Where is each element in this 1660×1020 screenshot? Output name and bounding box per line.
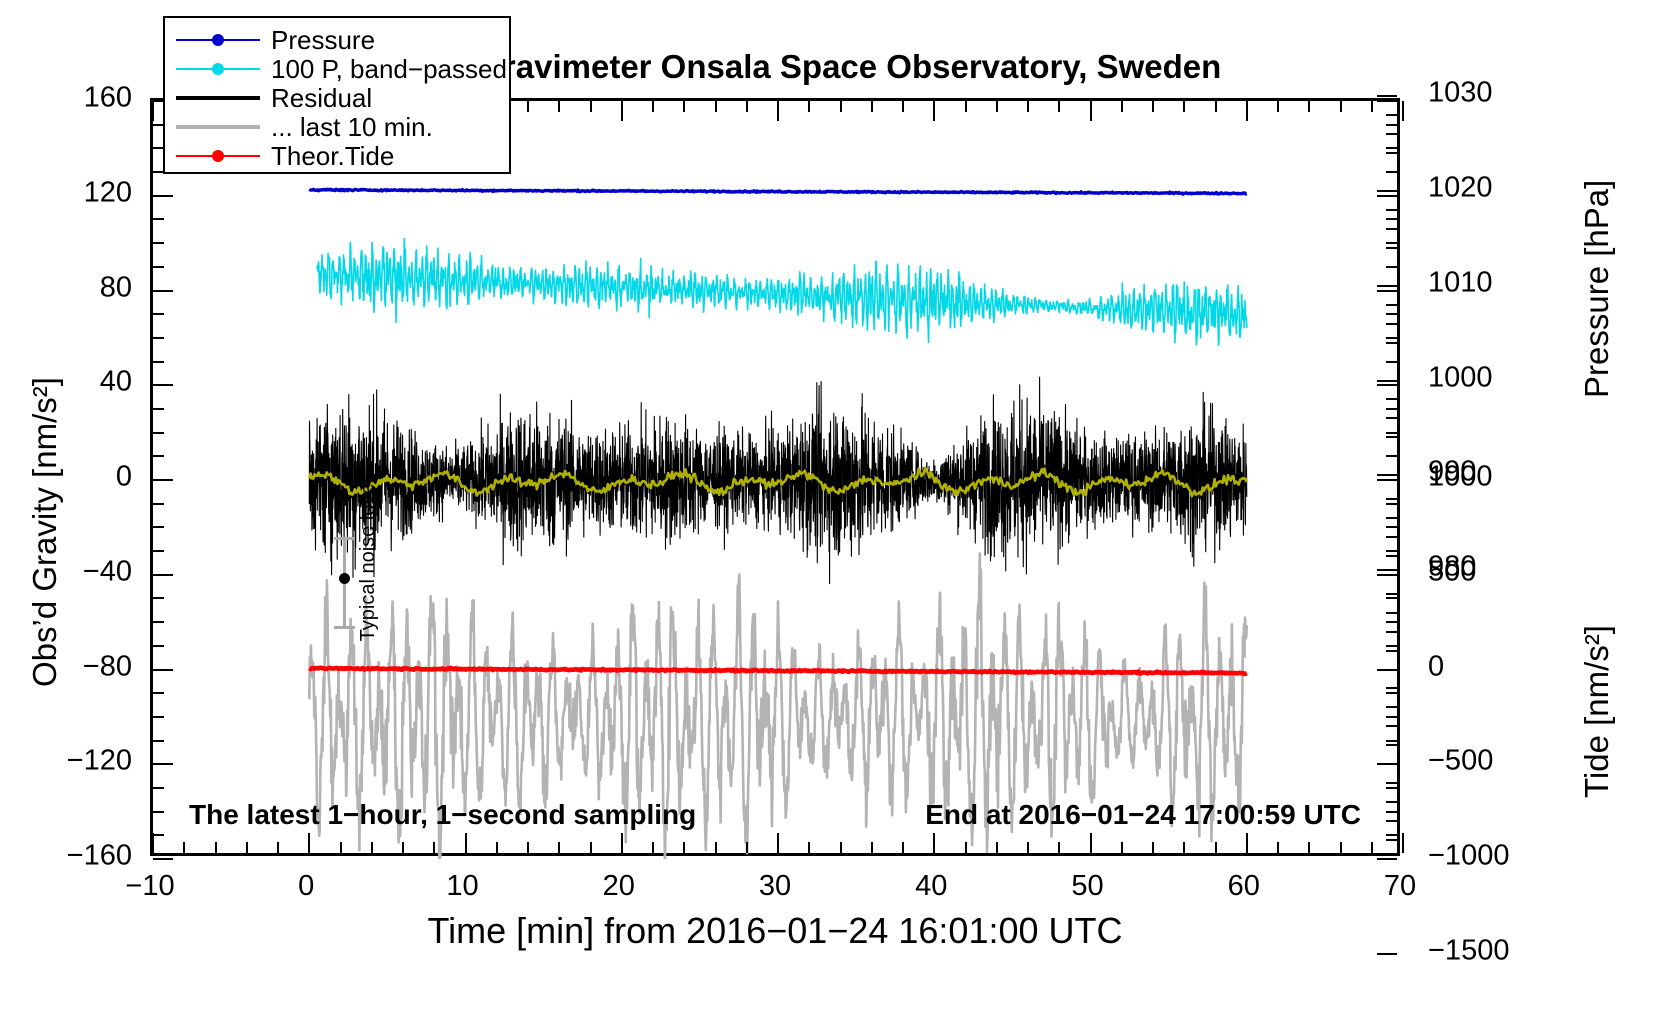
y-tick-left	[153, 361, 164, 363]
x-tick-bottom	[590, 842, 592, 853]
x-tick-bottom	[715, 842, 717, 853]
y-axis-right-tide-label: 500	[1428, 557, 1476, 586]
y-axis-left-tick-label: −80	[20, 652, 132, 681]
y-tick-right-tide-minor	[1386, 820, 1397, 822]
y-tick-left	[153, 242, 164, 244]
x-tick-bottom	[683, 842, 685, 853]
y-tick-left	[153, 574, 173, 576]
y-tick-right-tide-minor	[1386, 612, 1397, 614]
x-tick-top	[715, 101, 717, 112]
legend-label-last10min: ... last 10 min.	[271, 114, 433, 140]
x-tick-bottom	[308, 833, 310, 853]
x-tick-top	[1371, 101, 1373, 112]
y-tick-left-mirror	[1386, 621, 1397, 623]
x-tick-bottom	[183, 842, 185, 853]
y-tick-left	[153, 479, 173, 481]
x-tick-bottom	[1183, 842, 1185, 853]
data-traces	[153, 101, 1403, 859]
y-tick-left	[153, 526, 164, 528]
y-tick-left	[153, 455, 164, 457]
x-tick-top	[1308, 101, 1310, 112]
legend-swatch-theortide	[176, 147, 260, 165]
y-tick-left-mirror	[1386, 503, 1397, 505]
y-tick-right-tide-minor	[1386, 782, 1397, 784]
y-tick-right-tide-minor	[1386, 555, 1397, 557]
y-tick-right-pressure	[1377, 474, 1397, 476]
x-tick-top	[1121, 101, 1123, 112]
x-tick-top	[871, 101, 873, 112]
y-tick-right-pressure-minor	[1386, 133, 1397, 135]
y-tick-right-pressure-minor	[1386, 209, 1397, 211]
y-tick-left	[153, 621, 164, 623]
noise-level-cap-top	[334, 537, 355, 540]
x-tick-top	[808, 101, 810, 112]
y-tick-left	[153, 408, 164, 410]
legend-item-bandpassed: 100 P, band−passed	[165, 54, 509, 83]
x-tick-bottom	[1402, 833, 1404, 853]
x-axis-tick-label: 0	[298, 872, 314, 901]
x-tick-top	[1058, 101, 1060, 112]
y-axis-left-tick-label: 80	[20, 273, 132, 302]
y-tick-right-tide-minor	[1386, 650, 1397, 652]
y-axis-right-pressure-label: 1000	[1428, 363, 1493, 392]
x-tick-bottom	[496, 842, 498, 853]
x-tick-top	[683, 101, 685, 112]
legend-item-residual: Residual	[165, 83, 509, 112]
y-tick-right-tide-minor	[1386, 744, 1397, 746]
y-tick-left	[153, 597, 164, 599]
x-tick-bottom	[465, 833, 467, 853]
noise-level-dot	[339, 573, 350, 584]
y-tick-left-mirror	[1386, 242, 1397, 244]
y-axis-right-pressure-label: 1030	[1428, 79, 1493, 108]
y-tick-right-tide-minor	[1386, 593, 1397, 595]
y-tick-left-mirror	[1386, 408, 1397, 410]
legend-swatch-last10min	[176, 118, 260, 136]
x-tick-bottom	[1308, 842, 1310, 853]
y-axis-right-tide-label: −1500	[1428, 936, 1509, 965]
y-tick-right-pressure	[1377, 285, 1397, 287]
x-tick-bottom	[652, 842, 654, 853]
x-tick-top	[777, 101, 779, 121]
legend-item-pressure: Pressure	[165, 25, 509, 54]
noise-level-cap-bottom	[334, 626, 355, 629]
x-tick-bottom	[1371, 842, 1373, 853]
x-tick-top	[1183, 101, 1185, 112]
y-tick-right-pressure-minor	[1386, 361, 1397, 363]
y-tick-left	[153, 645, 164, 647]
y-tick-right-pressure-minor	[1386, 342, 1397, 344]
x-tick-top	[1152, 101, 1154, 112]
y-tick-left-mirror	[1386, 692, 1397, 694]
x-tick-bottom	[1058, 842, 1060, 853]
x-axis-tick-label: 50	[1071, 872, 1103, 901]
x-tick-bottom	[965, 842, 967, 853]
x-tick-top	[840, 101, 842, 112]
x-tick-bottom	[840, 842, 842, 853]
legend-swatch-bandpassed	[176, 60, 260, 78]
x-tick-top	[1402, 101, 1404, 121]
y-tick-right-pressure-minor	[1386, 304, 1397, 306]
y-tick-right-pressure-minor	[1386, 398, 1397, 400]
y-tick-left-mirror	[1377, 384, 1397, 386]
x-tick-bottom	[808, 842, 810, 853]
y-tick-left	[153, 218, 164, 220]
y-axis-left-tick-label: −120	[20, 747, 132, 776]
y-axis-right-tide-title: Tide [nm/s²]	[1580, 625, 1613, 798]
y-tick-left-mirror	[1386, 313, 1397, 315]
y-axis-left-tick-label: 120	[20, 178, 132, 207]
y-tick-left-mirror	[1386, 716, 1397, 718]
y-tick-right-tide-minor	[1386, 725, 1397, 727]
x-tick-bottom	[152, 833, 154, 853]
y-tick-right-tide	[1377, 479, 1397, 481]
y-tick-left	[153, 787, 164, 789]
x-axis-tick-label: 20	[603, 872, 635, 901]
x-tick-top	[746, 101, 748, 112]
x-axis-tick-label: 70	[1384, 872, 1416, 901]
x-tick-bottom	[277, 842, 279, 853]
x-tick-bottom	[1246, 833, 1248, 853]
x-tick-top	[933, 101, 935, 121]
x-tick-top	[1090, 101, 1092, 121]
annotation-bottom-right: End at 2016−01−24 17:00:59 UTC	[925, 799, 1361, 831]
y-tick-left	[153, 716, 164, 718]
x-tick-top	[965, 101, 967, 112]
y-tick-right-tide	[1377, 574, 1397, 576]
x-tick-top	[590, 101, 592, 112]
x-tick-top	[1340, 101, 1342, 112]
y-tick-right-pressure	[1377, 95, 1397, 97]
x-tick-bottom	[1277, 842, 1279, 853]
y-axis-left-title: Obs’d Gravity [nm/s²]	[28, 377, 61, 687]
y-tick-left-mirror	[1386, 337, 1397, 339]
y-tick-right-pressure-minor	[1386, 247, 1397, 249]
y-tick-left-mirror	[1386, 124, 1397, 126]
y-axis-left-tick-label: 160	[20, 84, 132, 113]
x-tick-top	[152, 101, 154, 121]
x-tick-bottom	[1215, 842, 1217, 853]
y-tick-left-mirror	[1386, 834, 1397, 836]
y-axis-right-tide-label: −500	[1428, 747, 1493, 776]
x-tick-top	[527, 101, 529, 112]
y-tick-left	[153, 432, 164, 434]
y-tick-right-tide-minor	[1386, 687, 1397, 689]
y-tick-left-mirror	[1386, 740, 1397, 742]
x-tick-bottom	[1340, 842, 1342, 853]
y-tick-left	[153, 858, 173, 860]
y-tick-left	[153, 503, 164, 505]
x-tick-bottom	[558, 842, 560, 853]
x-tick-bottom	[1121, 842, 1123, 853]
x-tick-bottom	[371, 842, 373, 853]
y-tick-left	[153, 313, 164, 315]
y-tick-left	[153, 384, 173, 386]
y-tick-left	[153, 834, 164, 836]
legend-label-residual: Residual	[271, 85, 372, 111]
y-axis-right-tide-label: −1000	[1428, 842, 1509, 871]
y-tick-right-pressure-minor	[1386, 114, 1397, 116]
x-tick-top	[1215, 101, 1217, 112]
y-tick-left	[153, 692, 164, 694]
plot-area: Typical noise level The latest 1−hour, 1…	[150, 98, 1400, 856]
y-tick-left	[153, 550, 164, 552]
chart-canvas: SCG_054 gravimeter Onsala Space Observat…	[0, 0, 1660, 1020]
y-tick-left-mirror	[1386, 147, 1397, 149]
y-axis-left-tick-label: 40	[20, 368, 132, 397]
y-tick-left	[153, 763, 173, 765]
y-tick-left-mirror	[1377, 290, 1397, 292]
y-tick-right-pressure	[1377, 569, 1397, 571]
y-tick-left-mirror	[1377, 100, 1397, 102]
trace-bandpassed-pressure	[317, 239, 1247, 346]
x-tick-top	[996, 101, 998, 112]
legend-label-bandpassed: 100 P, band−passed	[271, 56, 507, 82]
y-tick-left	[153, 290, 173, 292]
x-tick-bottom	[996, 842, 998, 853]
y-tick-right-pressure	[1377, 190, 1397, 192]
y-axis-right-tide-label: 0	[1428, 652, 1444, 681]
y-tick-left-mirror	[1386, 645, 1397, 647]
legend-item-theortide: Theor.Tide	[165, 141, 509, 170]
y-tick-right-tide	[1377, 858, 1397, 860]
y-axis-left-tick-label: −40	[20, 557, 132, 586]
x-tick-top	[558, 101, 560, 112]
y-tick-right-pressure-minor	[1386, 436, 1397, 438]
y-tick-left	[153, 811, 164, 813]
y-tick-right-tide-minor	[1386, 536, 1397, 538]
y-tick-right-tide-minor	[1386, 839, 1397, 841]
y-tick-left-mirror	[1386, 526, 1397, 528]
y-tick-right-tide	[1377, 763, 1397, 765]
y-tick-left	[153, 337, 164, 339]
x-tick-bottom	[777, 833, 779, 853]
legend-label-pressure: Pressure	[271, 27, 375, 53]
x-axis-tick-label: 10	[446, 872, 478, 901]
legend-item-last10min: ... last 10 min.	[165, 112, 509, 141]
y-tick-left-mirror	[1386, 550, 1397, 552]
noise-level-label: Typical noise level	[357, 479, 380, 641]
y-tick-left-mirror	[1386, 811, 1397, 813]
y-axis-left-tick-label: −160	[20, 842, 132, 871]
y-tick-right-tide-minor	[1386, 631, 1397, 633]
x-tick-top	[1277, 101, 1279, 112]
y-axis-right-pressure-label: 1020	[1428, 174, 1493, 203]
x-tick-top	[1027, 101, 1029, 112]
x-tick-top	[621, 101, 623, 121]
x-tick-bottom	[933, 833, 935, 853]
y-tick-left	[153, 740, 164, 742]
y-tick-right-tide	[1377, 669, 1397, 671]
y-tick-right-pressure-minor	[1386, 171, 1397, 173]
x-tick-bottom	[402, 842, 404, 853]
y-tick-left-mirror	[1386, 597, 1397, 599]
y-tick-right-pressure-minor	[1386, 266, 1397, 268]
legend-swatch-residual	[176, 89, 260, 107]
x-tick-bottom	[902, 842, 904, 853]
x-axis-tick-label: 40	[915, 872, 947, 901]
x-tick-bottom	[246, 842, 248, 853]
legend-swatch-pressure	[176, 31, 260, 49]
x-tick-top	[652, 101, 654, 112]
x-axis-tick-label: −10	[125, 872, 174, 901]
y-tick-left-mirror	[1386, 218, 1397, 220]
x-tick-bottom	[340, 842, 342, 853]
chart-legend: Pressure 100 P, band−passed Residual ...…	[163, 16, 511, 174]
x-tick-bottom	[527, 842, 529, 853]
y-tick-left	[153, 669, 173, 671]
x-tick-bottom	[746, 842, 748, 853]
y-tick-right-tide	[1377, 953, 1397, 955]
y-tick-right-pressure-minor	[1386, 417, 1397, 419]
annotation-bottom-left: The latest 1−hour, 1−second sampling	[189, 799, 696, 831]
x-axis-tick-label: 60	[1228, 872, 1260, 901]
y-tick-left-mirror	[1386, 787, 1397, 789]
x-tick-top	[902, 101, 904, 112]
x-tick-bottom	[215, 842, 217, 853]
y-tick-left	[153, 195, 173, 197]
y-tick-right-tide-minor	[1386, 498, 1397, 500]
x-tick-bottom	[621, 833, 623, 853]
y-tick-right-pressure	[1377, 380, 1397, 382]
x-tick-bottom	[1090, 833, 1092, 853]
x-tick-bottom	[871, 842, 873, 853]
y-tick-left-mirror	[1386, 432, 1397, 434]
trace-pressure	[309, 189, 1247, 194]
x-tick-bottom	[433, 842, 435, 853]
legend-label-theortide: Theor.Tide	[271, 143, 394, 169]
y-tick-right-pressure-minor	[1386, 228, 1397, 230]
y-tick-right-tide-minor	[1386, 706, 1397, 708]
y-tick-left	[153, 266, 164, 268]
y-axis-right-pressure-label: 1010	[1428, 268, 1493, 297]
y-tick-right-tide-minor	[1386, 801, 1397, 803]
x-tick-top	[1246, 101, 1248, 121]
x-tick-bottom	[1152, 842, 1154, 853]
x-axis-title: Time [min] from 2016−01−24 16:01:00 UTC	[150, 910, 1400, 952]
y-tick-right-pressure-minor	[1386, 323, 1397, 325]
y-tick-right-tide-minor	[1386, 517, 1397, 519]
y-axis-right-pressure-title: Pressure [hPa]	[1580, 180, 1613, 398]
y-tick-right-pressure-minor	[1386, 455, 1397, 457]
y-tick-left-mirror	[1377, 195, 1397, 197]
y-axis-left-tick-label: 0	[20, 463, 132, 492]
x-axis-tick-label: 30	[759, 872, 791, 901]
y-axis-right-tide-label: 1000	[1428, 463, 1493, 492]
y-tick-right-pressure-minor	[1386, 152, 1397, 154]
x-tick-bottom	[1027, 842, 1029, 853]
